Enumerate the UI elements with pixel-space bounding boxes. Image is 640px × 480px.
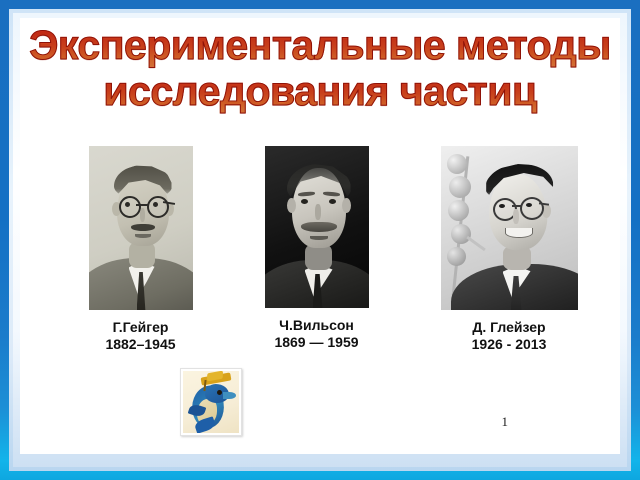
logo-image — [183, 371, 239, 433]
page-number: 1 — [502, 414, 509, 430]
scientist-name-geiger: Г.Гейгер — [68, 319, 213, 336]
scientist-years-glaser: 1926 - 2013 — [420, 336, 598, 353]
scientist-card-geiger: Г.Гейгер 1882–1945 — [68, 146, 213, 353]
scientist-card-wilson: Ч.Вильсон 1869 — 1959 — [242, 146, 391, 351]
scientist-years-geiger: 1882–1945 — [68, 336, 213, 353]
title-line-1: Экспериментальные методы — [20, 22, 620, 68]
dolphin-eye-shape — [217, 390, 222, 395]
slide-canvas: Экспериментальные методы исследования ча… — [20, 18, 620, 454]
scientists-row: Г.Гейгер 1882–1945 — [20, 146, 620, 346]
scientist-card-glaser: Д. Глейзер 1926 - 2013 — [420, 146, 598, 353]
scientist-years-wilson: 1869 — 1959 — [242, 334, 391, 351]
portrait-geiger-photo — [89, 146, 193, 310]
caption-geiger: Г.Гейгер 1882–1945 — [68, 319, 213, 353]
portrait-glaser-photo — [441, 146, 578, 310]
title-line-2: исследования частиц — [20, 68, 620, 114]
scientist-name-wilson: Ч.Вильсон — [242, 317, 391, 334]
dolphin-graduate-logo[interactable] — [180, 368, 242, 436]
slide: Экспериментальные методы исследования ча… — [0, 0, 640, 480]
caption-glaser: Д. Глейзер 1926 - 2013 — [420, 319, 598, 353]
scientist-name-glaser: Д. Глейзер — [420, 319, 598, 336]
page-title: Экспериментальные методы исследования ча… — [20, 22, 620, 114]
dolphin-snout-shape — [223, 392, 236, 399]
portrait-wilson-photo — [265, 146, 369, 308]
caption-wilson: Ч.Вильсон 1869 — 1959 — [242, 317, 391, 351]
